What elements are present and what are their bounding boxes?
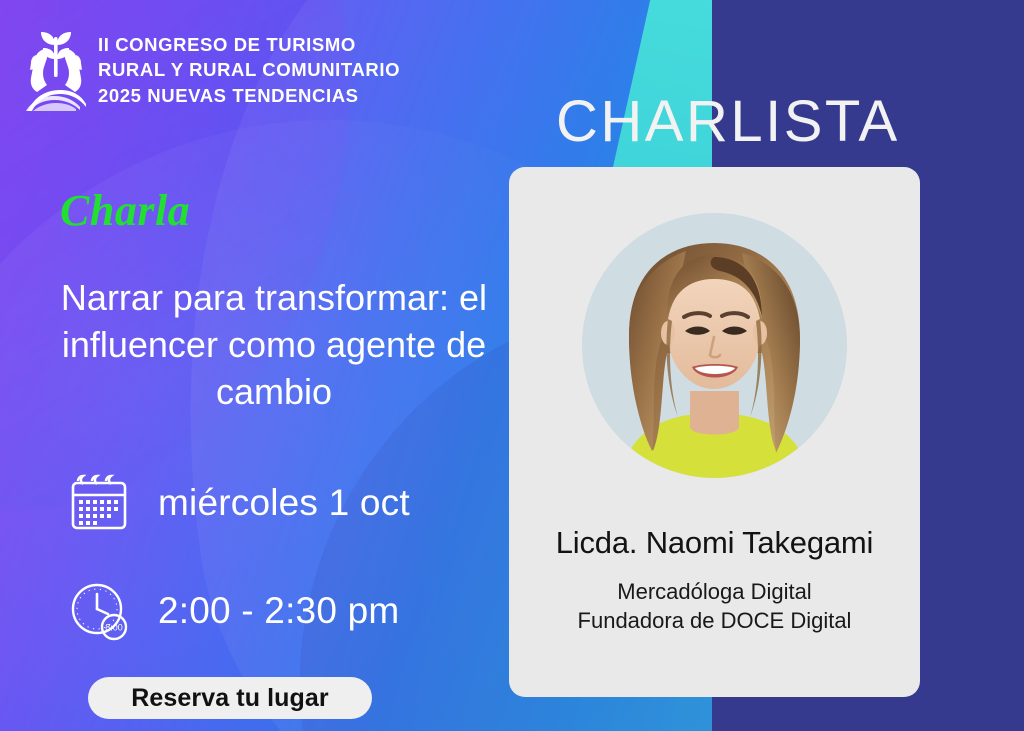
speaker-name: Licda. Naomi Takegami xyxy=(556,525,873,561)
congress-logo: II CONGRESO DE TURISMO RURAL Y RURAL COM… xyxy=(20,23,400,108)
event-poster: II CONGRESO DE TURISMO RURAL Y RURAL COM… xyxy=(0,0,1024,731)
talk-time-row: 8:00 2:00 - 2:30 pm xyxy=(66,578,399,644)
clock-icon: 8:00 xyxy=(66,578,132,644)
speaker-role-line-2: Fundadora de DOCE Digital xyxy=(578,606,852,635)
logo-line-2: RURAL Y RURAL COMUNITARIO xyxy=(98,57,400,82)
congress-logo-text: II CONGRESO DE TURISMO RURAL Y RURAL COM… xyxy=(98,23,400,108)
calendar-icon xyxy=(66,470,132,536)
speaker-section-title: CHARLISTA xyxy=(556,88,900,155)
talk-time: 2:00 - 2:30 pm xyxy=(158,590,399,632)
hands-holding-sprout-over-field-logo-icon xyxy=(20,23,86,89)
reserve-spot-button[interactable]: Reserva tu lugar xyxy=(88,677,372,719)
speaker-role-line-1: Mercadóloga Digital xyxy=(578,577,852,606)
speaker-card: Licda. Naomi Takegami Mercadóloga Digita… xyxy=(509,167,920,697)
talk-kicker: Charla xyxy=(60,185,190,236)
clock-badge-label: 8:00 xyxy=(105,623,123,633)
talk-date: miércoles 1 oct xyxy=(158,482,410,524)
logo-line-3: 2025 NUEVAS TENDENCIAS xyxy=(98,83,400,108)
speaker-role: Mercadóloga Digital Fundadora de DOCE Di… xyxy=(578,577,852,636)
talk-date-row: miércoles 1 oct xyxy=(66,470,410,536)
speaker-photo xyxy=(582,213,847,478)
logo-line-1: II CONGRESO DE TURISMO xyxy=(98,32,400,57)
talk-title: Narrar para transformar: el influencer c… xyxy=(40,275,508,415)
